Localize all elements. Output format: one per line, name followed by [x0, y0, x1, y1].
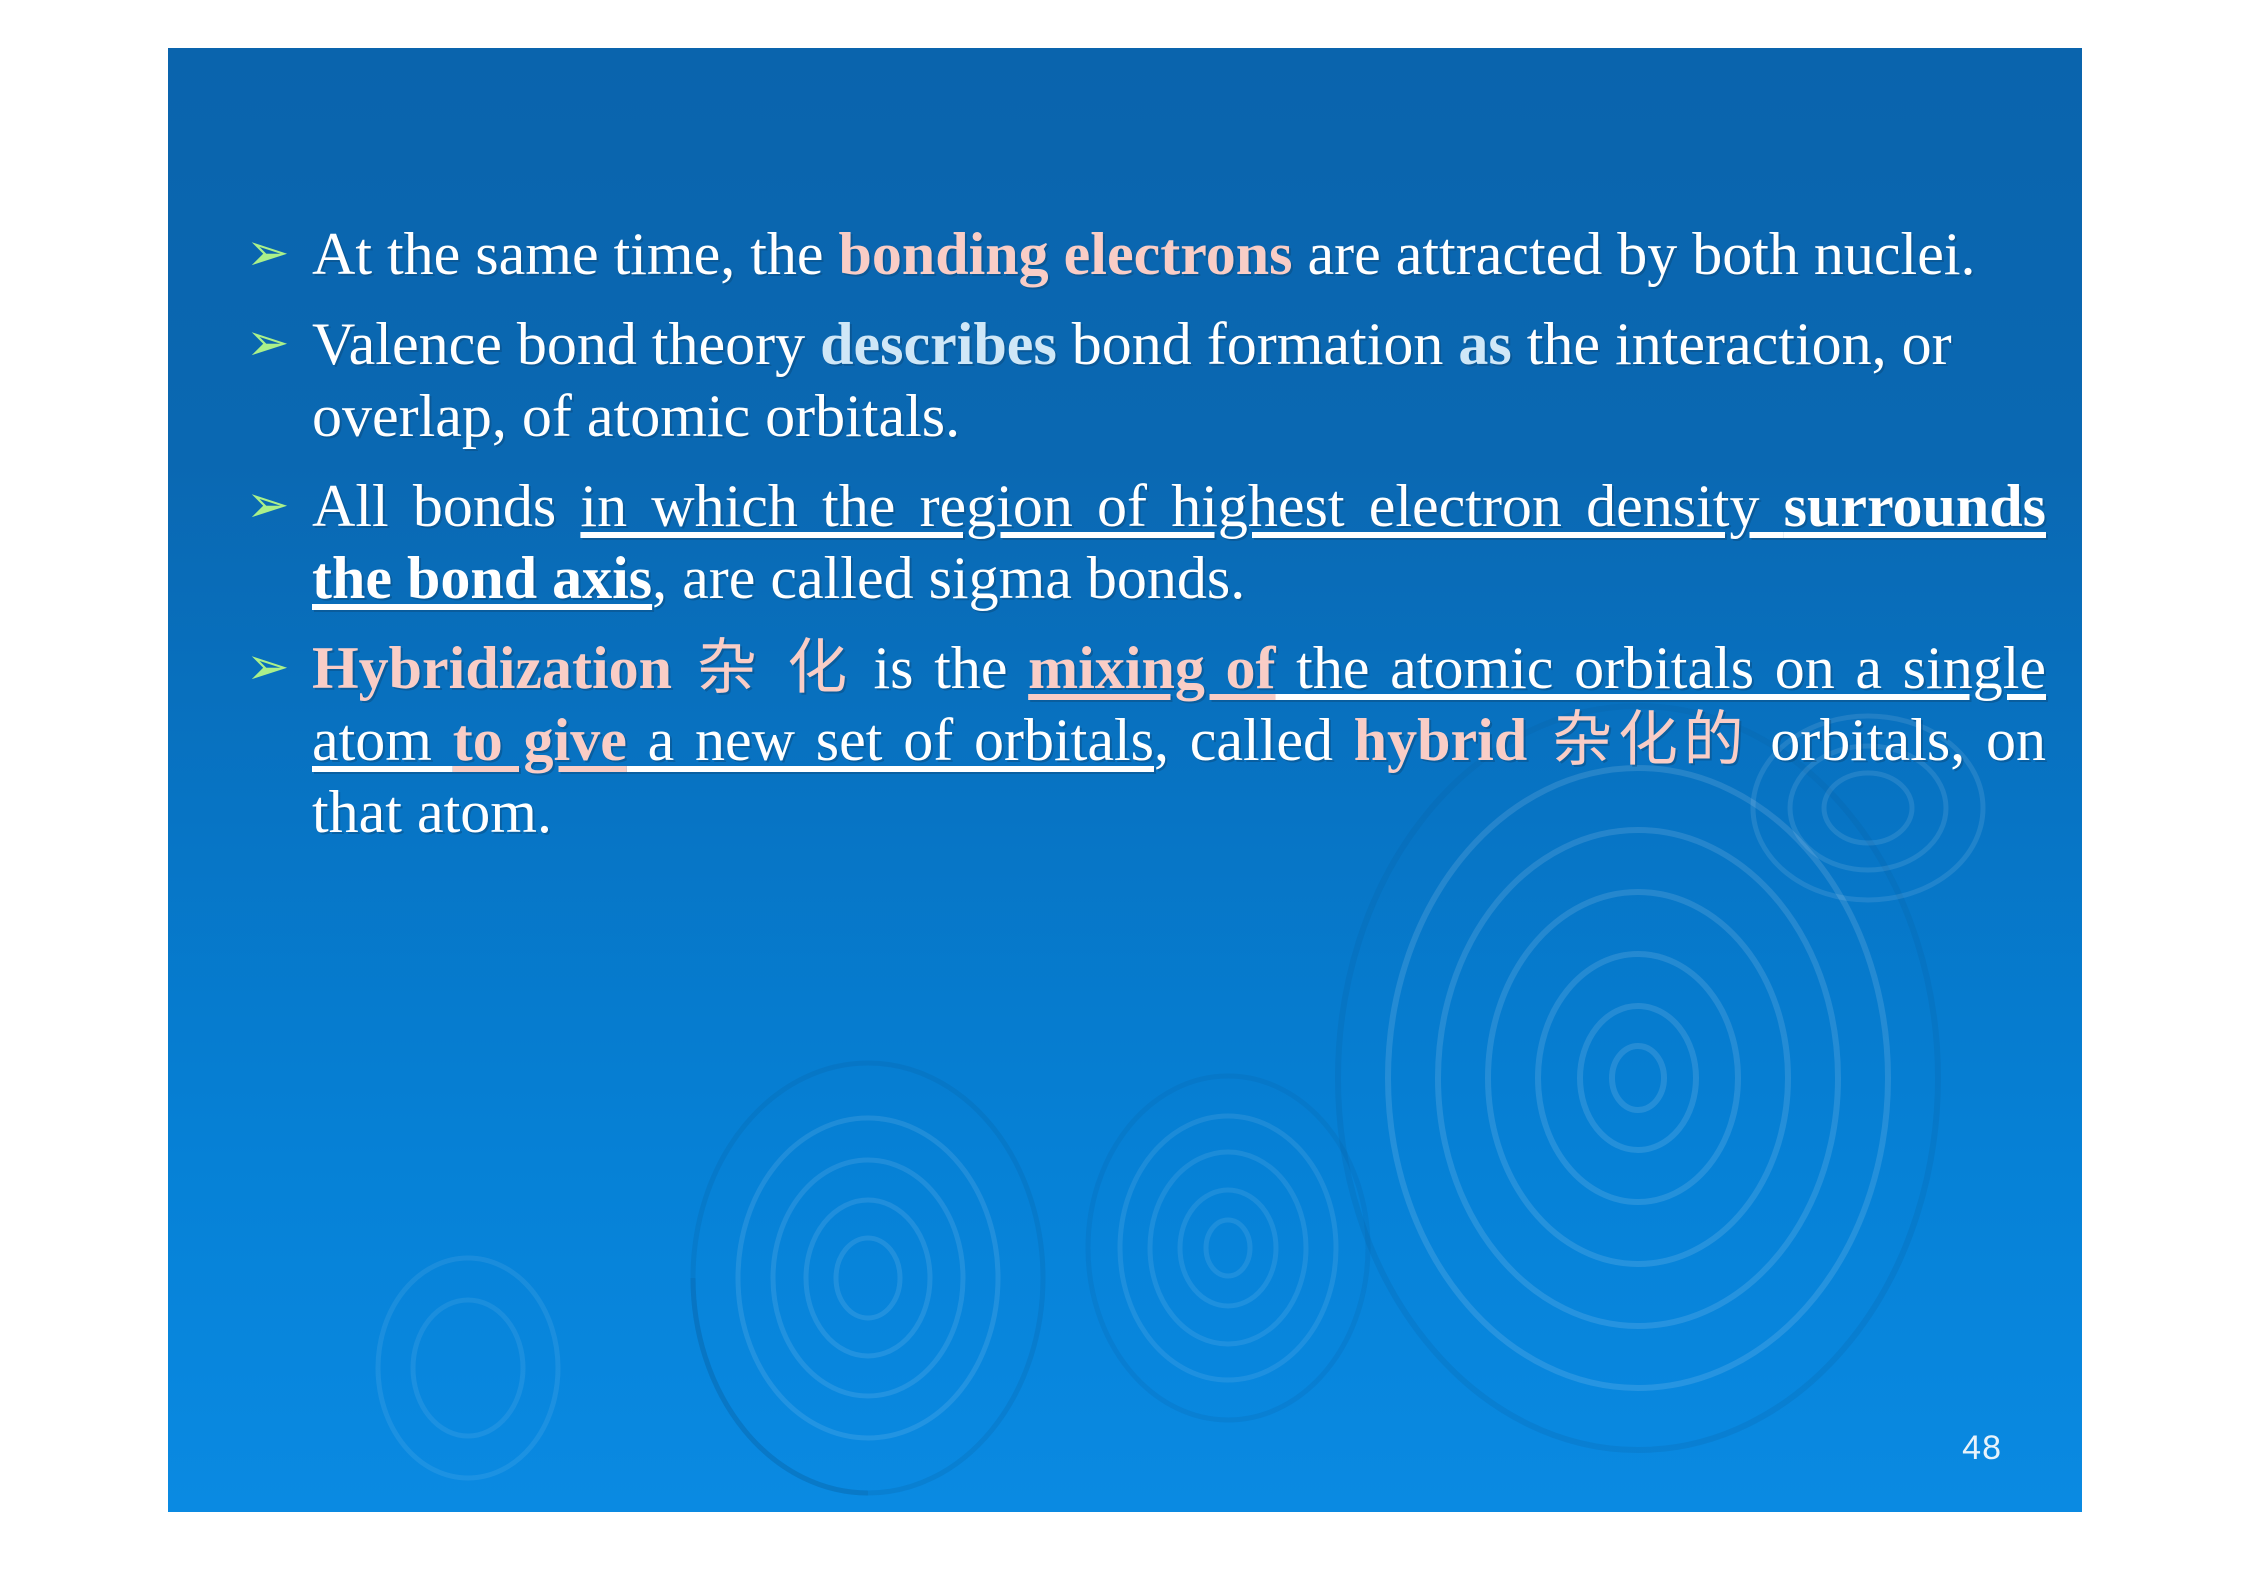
bullet-item-valence-bond-theory: ➢ Valence bond theory describes bond for… [246, 308, 2046, 452]
segment-text: bond formation [1057, 311, 1459, 377]
segment-text: At the same time, the [312, 221, 839, 287]
segment-emphasis-hybrid: hybrid [1354, 707, 1527, 773]
segment-underlined-new-set: a new set of orbitals [627, 707, 1154, 773]
bullet-text-valence-bond-theory: Valence bond theory describes bond forma… [312, 308, 2046, 452]
presentation-slide: ➢ At the same time, the bonding electron… [168, 48, 2082, 1512]
segment-text: All bonds [312, 473, 580, 539]
page-number: 48 [1962, 1429, 2002, 1468]
segment-emphasis-mixing-of: mixing of [1028, 635, 1275, 701]
bullet-arrow-icon: ➢ [246, 632, 312, 699]
bullet-text-sigma-bonds: All bonds in which the region of highest… [312, 470, 2046, 614]
segment-text: Valence bond theory [312, 311, 820, 377]
bullet-item-sigma-bonds: ➢ All bonds in which the region of highe… [246, 470, 2046, 614]
bullet-text-bonding-electrons: At the same time, the bonding electrons … [312, 218, 2046, 290]
screenshot-canvas: ➢ At the same time, the bonding electron… [0, 0, 2246, 1586]
segment-text: , called [1154, 707, 1354, 773]
segment-text: are attracted by both nuclei. [1293, 221, 1976, 287]
segment-chinese-hybridization: 杂 化 [672, 633, 853, 703]
segment-emphasis-describes: describes [820, 311, 1057, 377]
segment-chinese-hybrid-adj: 杂化的 [1527, 705, 1749, 775]
segment-emphasis-to-give: to give [453, 707, 627, 773]
bullet-item-hybridization: ➢ Hybridization 杂 化 is the mixing of the… [246, 632, 2046, 848]
segment-text: is the [853, 635, 1028, 701]
bullet-list: ➢ At the same time, the bonding electron… [246, 218, 2046, 866]
bullet-item-bonding-electrons: ➢ At the same time, the bonding electron… [246, 218, 2046, 290]
bullet-arrow-icon: ➢ [246, 308, 312, 375]
segment-emphasis-hybridization: Hybridization [312, 635, 672, 701]
bullet-arrow-icon: ➢ [246, 218, 312, 285]
bullet-text-hybridization: Hybridization 杂 化 is the mixing of the a… [312, 632, 2046, 848]
segment-underlined-region-clause: in which the region of highest electron … [580, 473, 1783, 539]
segment-text: , are called sigma bonds. [652, 545, 1245, 611]
segment-emphasis-bonding-electrons: bonding electrons [839, 221, 1293, 287]
segment-emphasis-as: as [1458, 311, 1511, 377]
bullet-arrow-icon: ➢ [246, 470, 312, 537]
